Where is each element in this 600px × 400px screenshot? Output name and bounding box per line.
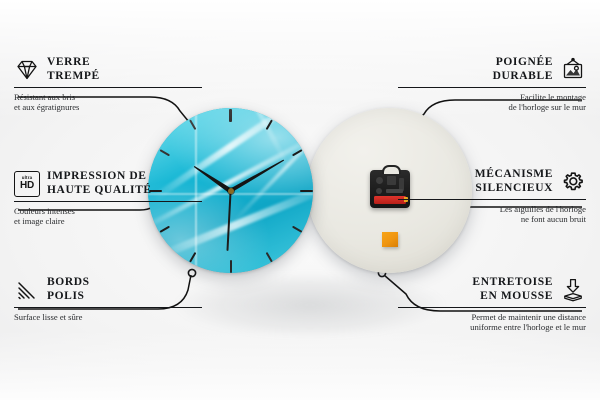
- polished-edge-icon: [14, 277, 40, 303]
- title-rule: [398, 199, 586, 200]
- feature-title: MÉCANISME SILENCIEUX: [475, 168, 553, 195]
- gear-icon: [560, 169, 586, 195]
- feature-title: VERRE TREMPÉ: [47, 56, 100, 83]
- diamond-icon: [14, 57, 40, 83]
- feature-bords-polis: BORDS POLIS Surface lisse et sûre: [14, 276, 202, 322]
- feature-poignee-durable: POIGNÉE DURABLE Facilite le montage de l…: [398, 56, 586, 112]
- feature-title: IMPRESSION DE HAUTE QUALITÉ: [47, 170, 152, 197]
- feature-description: Facilite le montage de l'horloge sur le …: [398, 92, 586, 113]
- feature-title: POIGNÉE DURABLE: [493, 56, 553, 83]
- ultra-hd-icon: ultra HD: [14, 171, 40, 197]
- feature-impression-haute-qualite: ultra HD IMPRESSION DE HAUTE QUALITÉ Cou…: [14, 170, 202, 226]
- title-rule: [14, 201, 202, 202]
- foam-spacer-icon: [560, 277, 586, 303]
- feature-description: Les aiguilles de l'horloge ne font aucun…: [398, 204, 586, 225]
- feature-mecanisme-silencieux: MÉCANISME SILENCIEUX Les aiguilles de l'…: [398, 168, 586, 224]
- feature-description: Permet de maintenir une distance uniform…: [398, 312, 586, 333]
- feature-entretoise-en-mousse: ENTRETOISE EN MOUSSE Permet de maintenir…: [398, 276, 586, 332]
- feature-description: Couleurs intenses et image claire: [14, 206, 202, 227]
- title-rule: [14, 307, 202, 308]
- title-rule: [14, 87, 202, 88]
- feature-verre-trempe: VERRE TREMPÉ Résistant aux bris et aux é…: [14, 56, 202, 112]
- hanging-frame-icon: [560, 57, 586, 83]
- infographic-canvas: VERRE TREMPÉ Résistant aux bris et aux é…: [0, 0, 600, 400]
- feature-description: Surface lisse et sûre: [14, 312, 202, 322]
- feature-description: Résistant aux bris et aux égratignures: [14, 92, 202, 113]
- title-rule: [398, 87, 586, 88]
- foam-spacer-part: [382, 232, 398, 247]
- title-rule: [398, 307, 586, 308]
- feature-title: ENTRETOISE EN MOUSSE: [472, 276, 553, 303]
- feature-title: BORDS POLIS: [47, 276, 90, 303]
